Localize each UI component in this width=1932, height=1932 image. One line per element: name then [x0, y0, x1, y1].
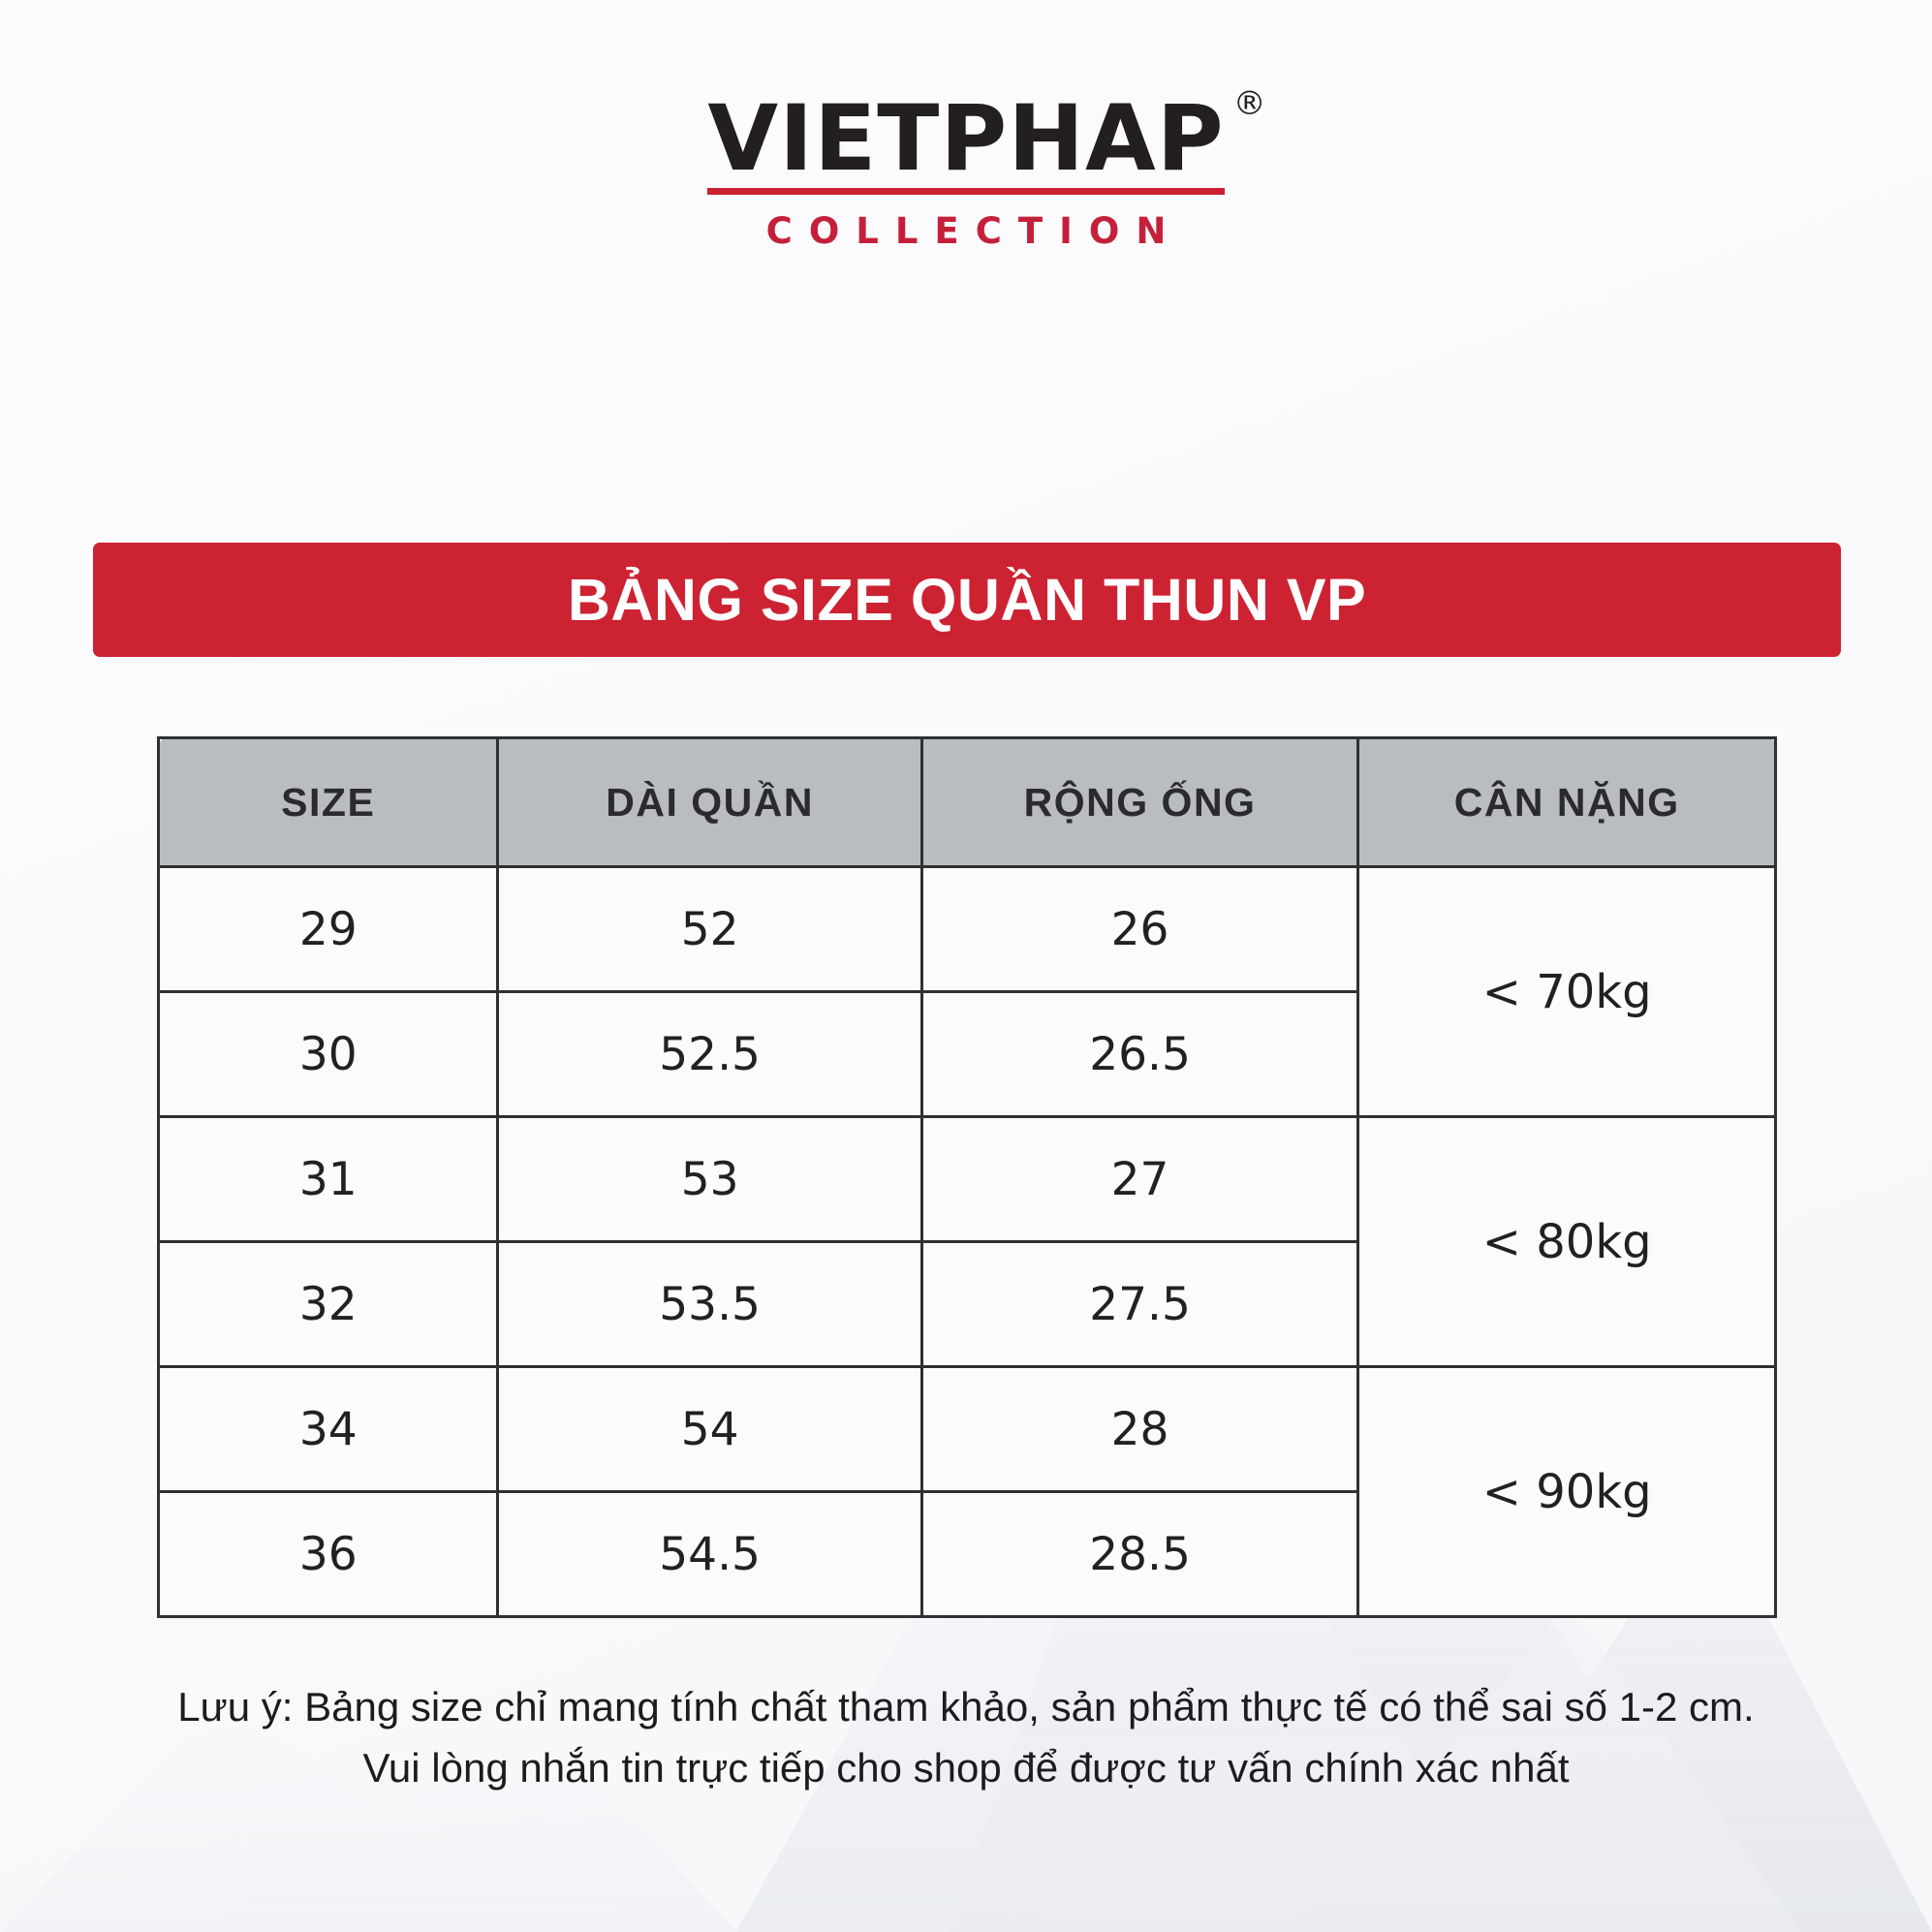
logo-wordmark-wrap: VIETPHAP ® COLLECTION — [707, 93, 1224, 252]
cell-size: 29 — [159, 867, 498, 992]
cell-size: 32 — [159, 1242, 498, 1367]
logo-tagline: COLLECTION — [707, 210, 1224, 252]
brand-logo: VIETPHAP ® COLLECTION — [0, 93, 1932, 252]
column-header-size: SIZE — [159, 738, 498, 867]
size-chart-container: SIZE DÀI QUẦN RỘNG ỐNG CÂN NẶNG 29 52 26… — [157, 736, 1777, 1618]
table-header-row: SIZE DÀI QUẦN RỘNG ỐNG CÂN NẶNG — [159, 738, 1776, 867]
cell-weight-group: < 90kg — [1358, 1367, 1776, 1617]
cell-size: 30 — [159, 992, 498, 1117]
logo-wordmark-label: VIETPHAP — [707, 86, 1224, 192]
table-body: 29 52 26 < 70kg 30 52.5 26.5 31 53 27 < … — [159, 867, 1776, 1617]
cell-length: 53 — [498, 1117, 921, 1242]
footer-note-line-2: Vui lòng nhắn tin trực tiếp cho shop để … — [0, 1737, 1932, 1798]
cell-length: 54 — [498, 1367, 921, 1492]
registered-trademark-icon: ® — [1233, 87, 1267, 121]
table-row: 29 52 26 < 70kg — [159, 867, 1776, 992]
cell-size: 36 — [159, 1492, 498, 1617]
column-header-weight: CÂN NẶNG — [1358, 738, 1776, 867]
column-header-width: RỘNG ỐNG — [921, 738, 1358, 867]
cell-length: 52.5 — [498, 992, 921, 1117]
table-row: 34 54 28 < 90kg — [159, 1367, 1776, 1492]
cell-width: 26.5 — [921, 992, 1358, 1117]
footer-note-line-1: Lưu ý: Bảng size chỉ mang tính chất tham… — [0, 1676, 1932, 1737]
table-header: SIZE DÀI QUẦN RỘNG ỐNG CÂN NẶNG — [159, 738, 1776, 867]
footer-note: Lưu ý: Bảng size chỉ mang tính chất tham… — [0, 1676, 1932, 1798]
logo-wordmark-text: VIETPHAP ® — [707, 93, 1224, 186]
page-title-banner: BẢNG SIZE QUẦN THUN VP — [93, 543, 1841, 657]
page-title: BẢNG SIZE QUẦN THUN VP — [568, 566, 1366, 634]
cell-weight-group: < 80kg — [1358, 1117, 1776, 1367]
size-chart-table: SIZE DÀI QUẦN RỘNG ỐNG CÂN NẶNG 29 52 26… — [157, 736, 1777, 1618]
cell-width: 26 — [921, 867, 1358, 992]
cell-size: 34 — [159, 1367, 498, 1492]
cell-weight-group: < 70kg — [1358, 867, 1776, 1117]
cell-length: 52 — [498, 867, 921, 992]
cell-width: 27 — [921, 1117, 1358, 1242]
cell-width: 27.5 — [921, 1242, 1358, 1367]
cell-width: 28.5 — [921, 1492, 1358, 1617]
table-row: 31 53 27 < 80kg — [159, 1117, 1776, 1242]
cell-length: 53.5 — [498, 1242, 921, 1367]
cell-size: 31 — [159, 1117, 498, 1242]
cell-length: 54.5 — [498, 1492, 921, 1617]
column-header-length: DÀI QUẦN — [498, 738, 921, 867]
cell-width: 28 — [921, 1367, 1358, 1492]
